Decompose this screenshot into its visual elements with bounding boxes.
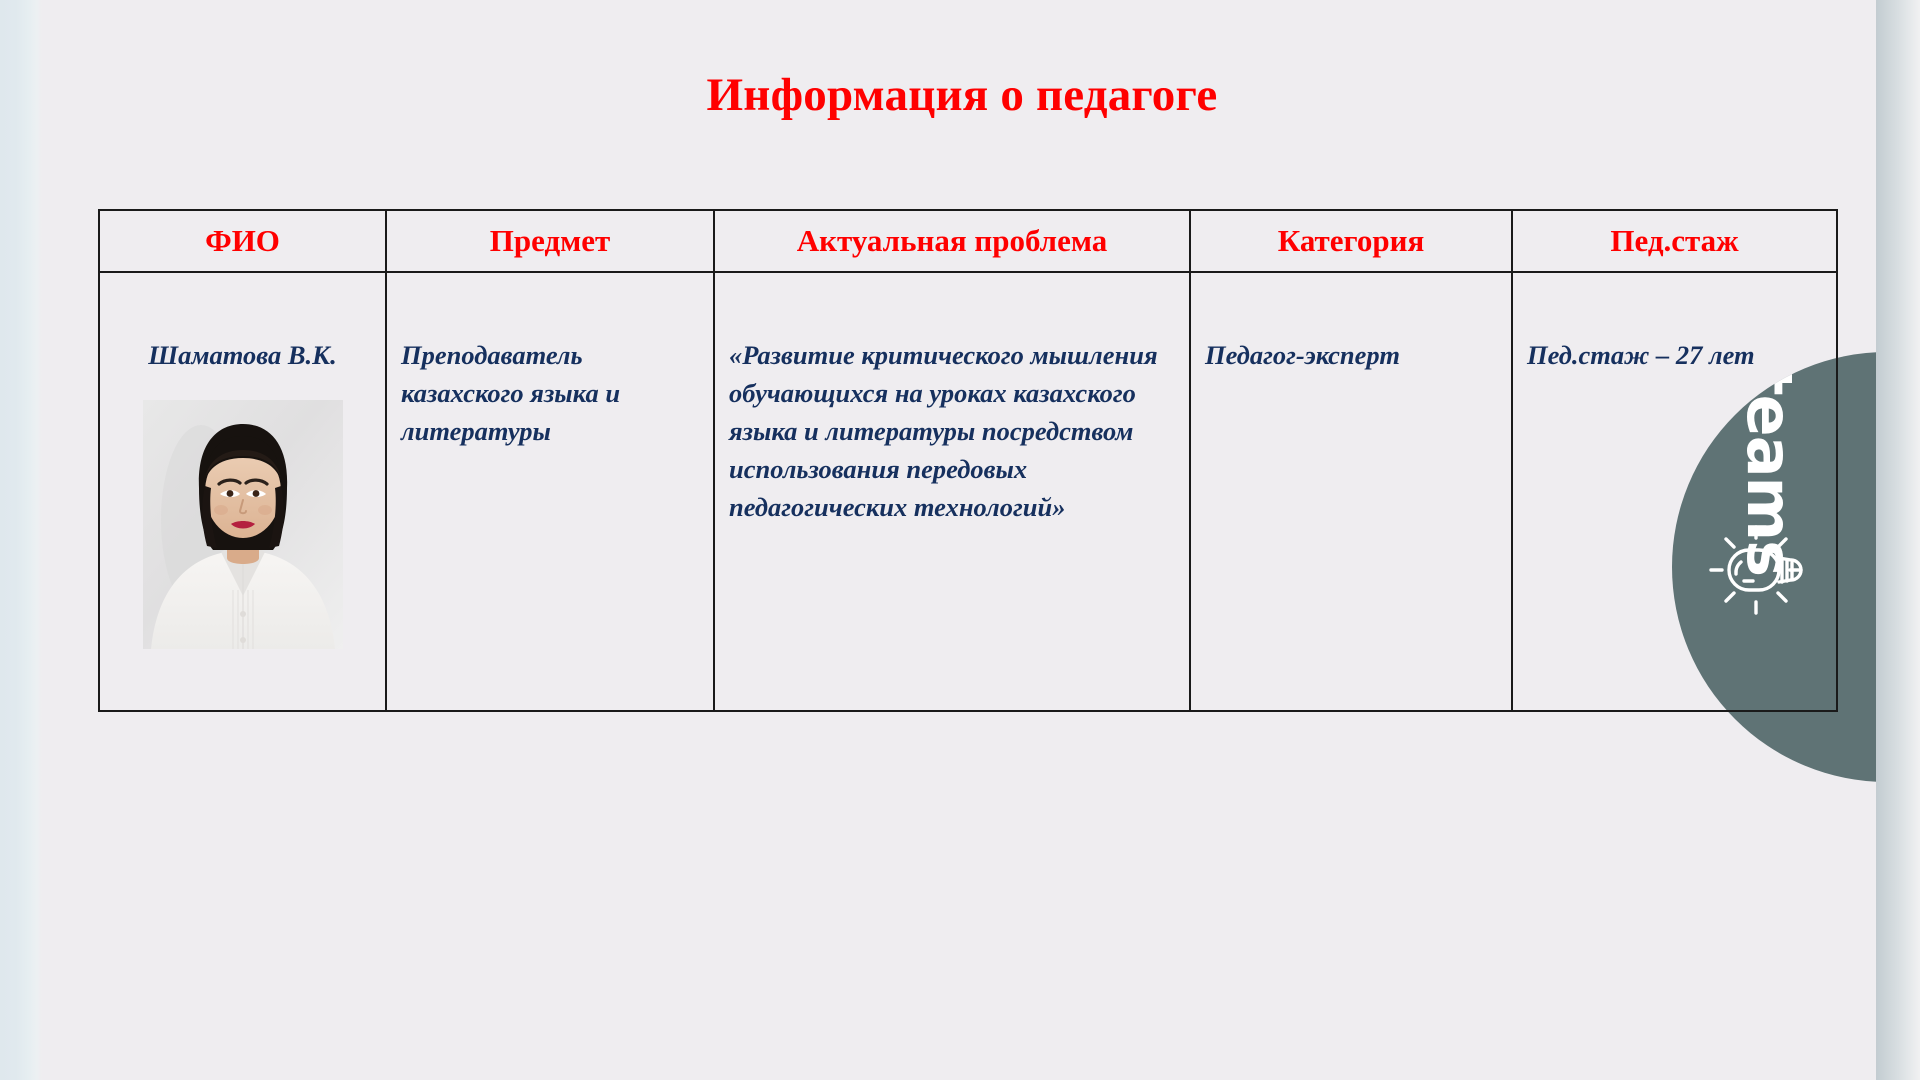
experience-text: Пед.стаж – 27 лет [1513, 273, 1836, 374]
cell-category: Педагог-эксперт [1190, 272, 1512, 711]
cell-fio: Шаматова В.К. [99, 272, 386, 711]
table-body: Шаматова В.К. [99, 272, 1837, 711]
column-header-problem: Актуальная проблема [714, 210, 1190, 272]
avatar [143, 400, 343, 649]
page-title: Информация о педагоге [98, 68, 1826, 122]
left-edge-gradient [0, 0, 42, 1080]
column-header-subject: Предмет [386, 210, 714, 272]
table-header: ФИО Предмет Актуальная проблема Категори… [99, 210, 1837, 272]
column-header-category: Категория [1190, 210, 1512, 272]
column-header-fio: ФИО [99, 210, 386, 272]
teacher-photo [143, 400, 343, 649]
subject-text: Преподаватель казахского языка и литерат… [387, 273, 713, 450]
cell-problem: «Развитие критического мышления обучающи… [714, 272, 1190, 711]
category-text: Педагог-эксперт [1191, 273, 1511, 374]
table-row: Шаматова В.К. [99, 272, 1837, 711]
cell-subject: Преподаватель казахского языка и литерат… [386, 272, 714, 711]
column-header-experience: Пед.стаж [1512, 210, 1837, 272]
teacher-name: Шаматова В.К. [110, 336, 375, 374]
slide-canvas: teams Информация о педагоге ФИО Предмет … [0, 0, 1920, 1080]
table-header-row: ФИО Предмет Актуальная проблема Категори… [99, 210, 1837, 272]
problem-text: «Развитие критического мышления обучающи… [715, 273, 1189, 526]
cell-experience: Пед.стаж – 27 лет [1512, 272, 1837, 711]
teacher-info-table: ФИО Предмет Актуальная проблема Категори… [98, 209, 1838, 712]
